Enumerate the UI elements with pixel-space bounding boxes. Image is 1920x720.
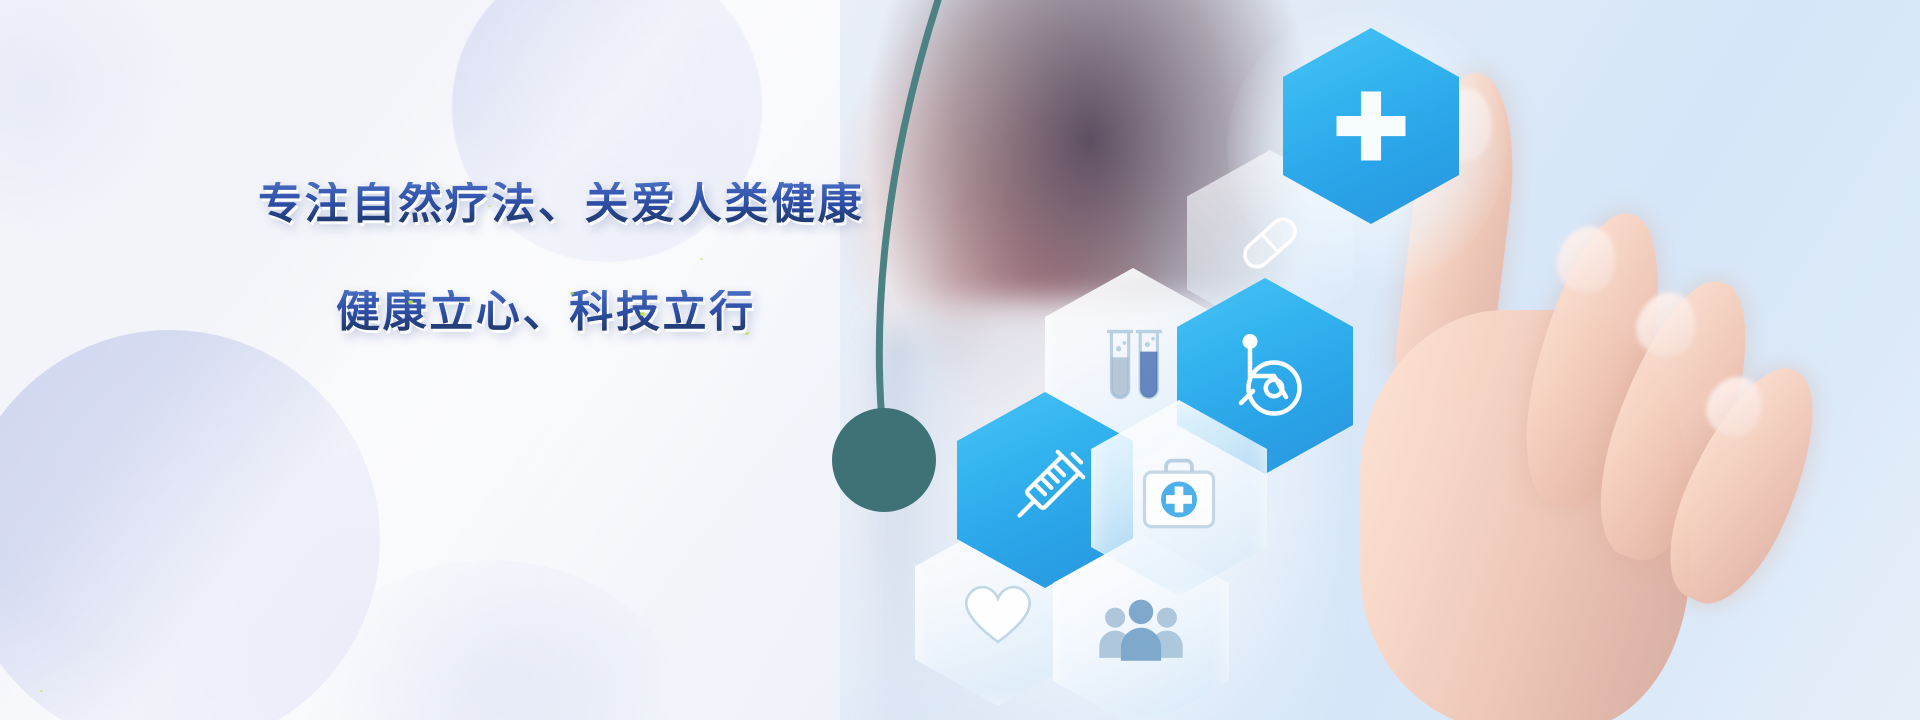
headline-block: 专注自然疗法、关爱人类健康 健康立心、科技立行	[258, 182, 878, 334]
sparkle-dot	[40, 690, 43, 692]
background-glow-left	[0, 0, 180, 240]
headline-line-2: 健康立心、科技立行	[336, 290, 878, 334]
sparkle-dot	[640, 312, 645, 316]
sparkle-dot	[488, 205, 491, 207]
syringe-icon	[997, 442, 1093, 538]
wheelchair-icon	[1217, 328, 1313, 424]
first-aid-kit-icon	[1133, 452, 1225, 544]
health-banner: 专注自然疗法、关爱人类健康 健康立心、科技立行	[0, 0, 1920, 720]
sparkle-dot	[570, 292, 574, 295]
medical-cross-icon	[1325, 80, 1417, 172]
heart-icon	[956, 571, 1040, 655]
pill-capsule-icon	[1227, 200, 1313, 286]
sparkle-dot	[408, 300, 413, 304]
hexagon-icon-cluster	[905, 0, 1525, 720]
headline-line-1: 专注自然疗法、关爱人类健康	[258, 182, 878, 226]
sparkle-dot	[700, 258, 703, 260]
sparkle-dot	[745, 332, 749, 335]
family-group-icon	[1095, 586, 1187, 678]
test-tubes-icon	[1087, 320, 1179, 412]
